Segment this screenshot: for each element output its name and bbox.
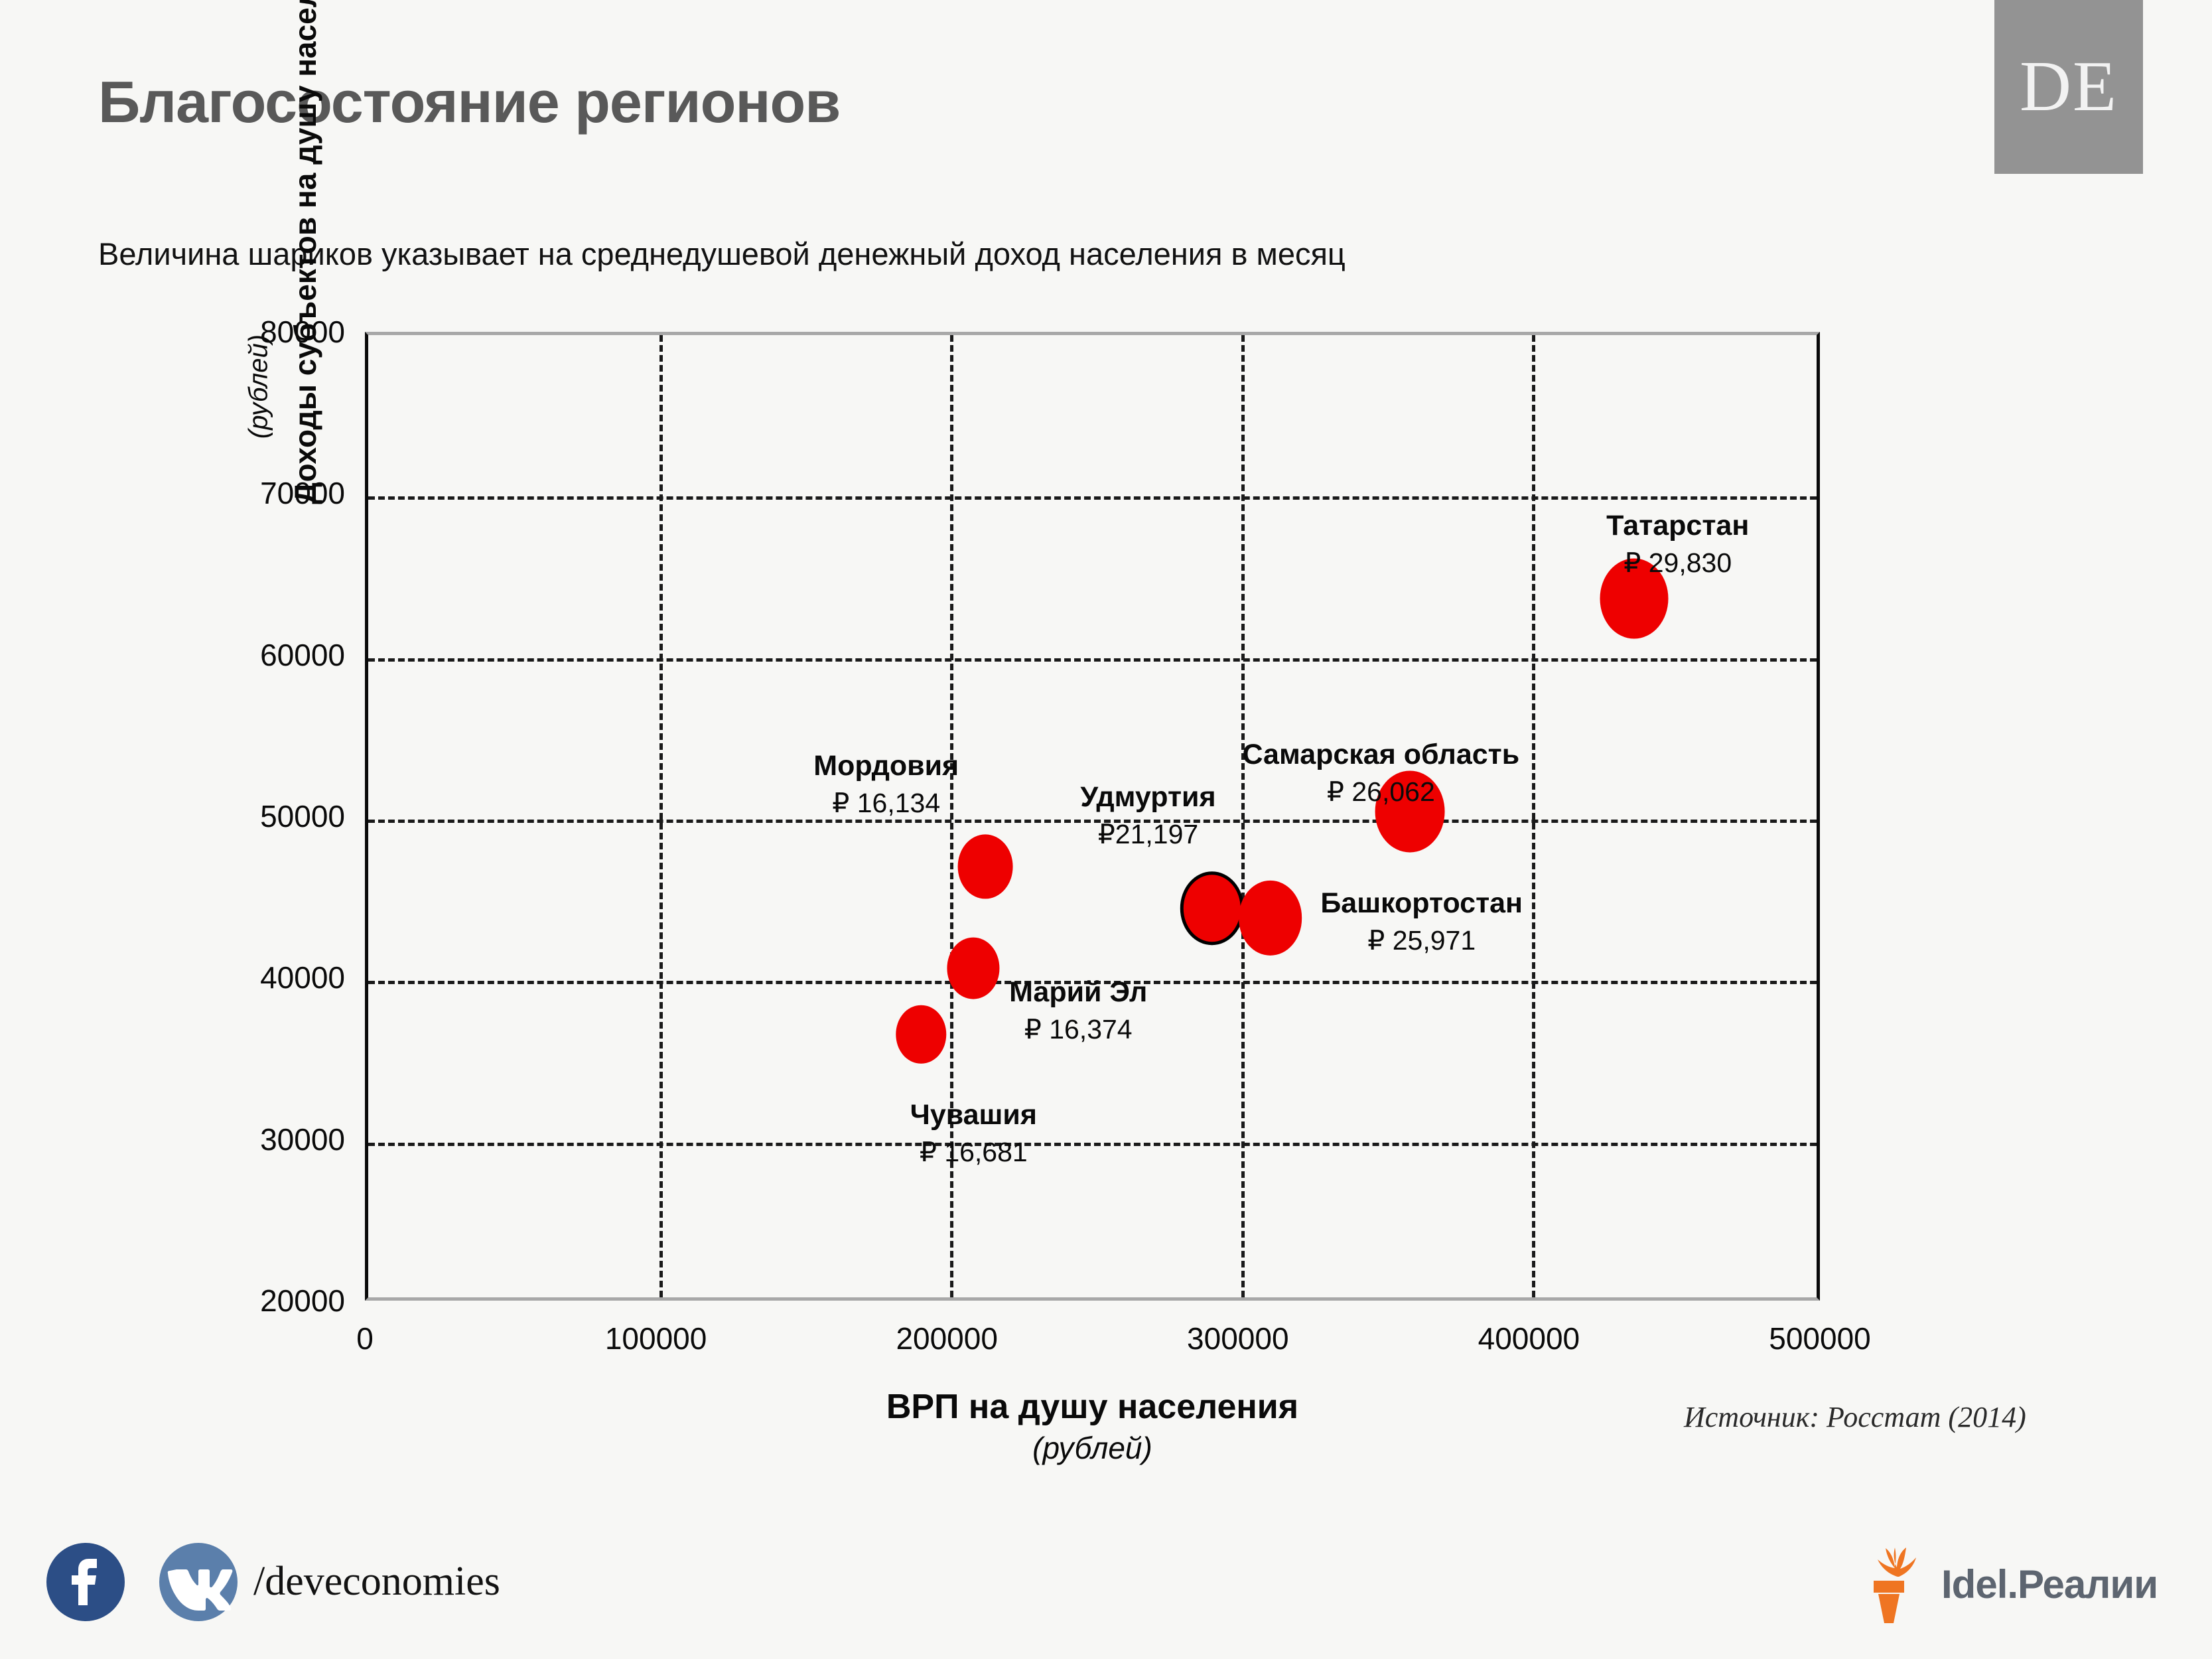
y-tick-label: 80000	[260, 314, 345, 350]
x-tick-label: 300000	[1187, 1321, 1289, 1356]
x-axis-label-units: (рублей)	[365, 1430, 1820, 1466]
point-label-value: ₽ 25,971	[1367, 924, 1476, 956]
de-logo-text: DE	[2020, 51, 2118, 123]
gridline-vertical	[1532, 335, 1535, 1297]
page-subtitle: Величина шариков указывает на среднедуше…	[98, 236, 1346, 272]
point-label-name: Татарстан	[1606, 510, 1749, 542]
y-tick-label: 70000	[260, 475, 345, 511]
point-label-value: ₽ 16,374	[1024, 1013, 1133, 1045]
bubble-чувашия[interactable]	[896, 1005, 946, 1064]
point-label-value: ₽21,197	[1098, 818, 1199, 850]
x-tick-label: 400000	[1478, 1321, 1580, 1356]
de-logo: DE	[1994, 0, 2143, 174]
y-tick-label: 30000	[260, 1121, 345, 1157]
vk-icon[interactable]	[159, 1543, 238, 1621]
gridline-vertical	[659, 335, 663, 1297]
gridline-horizontal	[368, 1143, 1817, 1146]
x-axis-ticks: 0100000200000300000400000500000	[365, 1321, 1820, 1367]
idel-realii-text: Idel.Реалии	[1941, 1561, 2158, 1607]
y-tick-label: 40000	[260, 960, 345, 995]
idel-realii-logo[interactable]: Idel.Реалии	[1858, 1540, 2158, 1629]
bubble-удмуртия[interactable]	[1180, 871, 1244, 946]
point-label-name: Чувашия	[910, 1099, 1037, 1131]
gridline-vertical	[1241, 335, 1245, 1297]
point-label-value: ₽ 16,681	[920, 1136, 1028, 1168]
social-handle[interactable]: /deveconomies	[253, 1558, 500, 1605]
x-axis-label: ВРП на душу населения	[365, 1387, 1820, 1427]
bubble-марий-эл[interactable]	[947, 937, 1000, 999]
point-label-name: Удмуртия	[1080, 781, 1215, 814]
point-label-name: Мордовия	[813, 750, 959, 782]
point-label-value: ₽ 16,134	[832, 787, 940, 819]
facebook-icon[interactable]	[46, 1543, 125, 1621]
bubble-башкортостан[interactable]	[1239, 881, 1302, 955]
bubble-мордовия[interactable]	[957, 834, 1012, 899]
x-tick-label: 500000	[1769, 1321, 1871, 1356]
x-tick-label: 200000	[896, 1321, 998, 1356]
point-label-value: ₽ 26,062	[1327, 776, 1435, 808]
x-tick-label: 0	[356, 1321, 374, 1356]
source-note: Источник: Росстат (2014)	[1684, 1400, 2026, 1434]
point-label-name: Самарская область	[1242, 739, 1519, 771]
torch-icon	[1858, 1540, 1932, 1629]
point-label-name: Башкортостан	[1320, 887, 1523, 920]
gridline-horizontal	[368, 820, 1817, 823]
gridline-horizontal	[368, 496, 1817, 500]
point-label-name: Марий Эл	[1009, 976, 1147, 1009]
y-axis-ticks: 20000300004000050000600007000080000	[186, 332, 345, 1301]
page-title: Благосостояние регионов	[98, 68, 840, 136]
point-label-value: ₽ 29,830	[1624, 547, 1732, 579]
x-tick-label: 100000	[605, 1321, 707, 1356]
y-tick-label: 20000	[260, 1283, 345, 1319]
gridline-horizontal	[368, 658, 1817, 662]
scatter-plot-area: Татарстан₽ 29,830Самарская область₽ 26,0…	[365, 332, 1820, 1301]
y-tick-label: 60000	[260, 637, 345, 673]
y-tick-label: 50000	[260, 798, 345, 834]
